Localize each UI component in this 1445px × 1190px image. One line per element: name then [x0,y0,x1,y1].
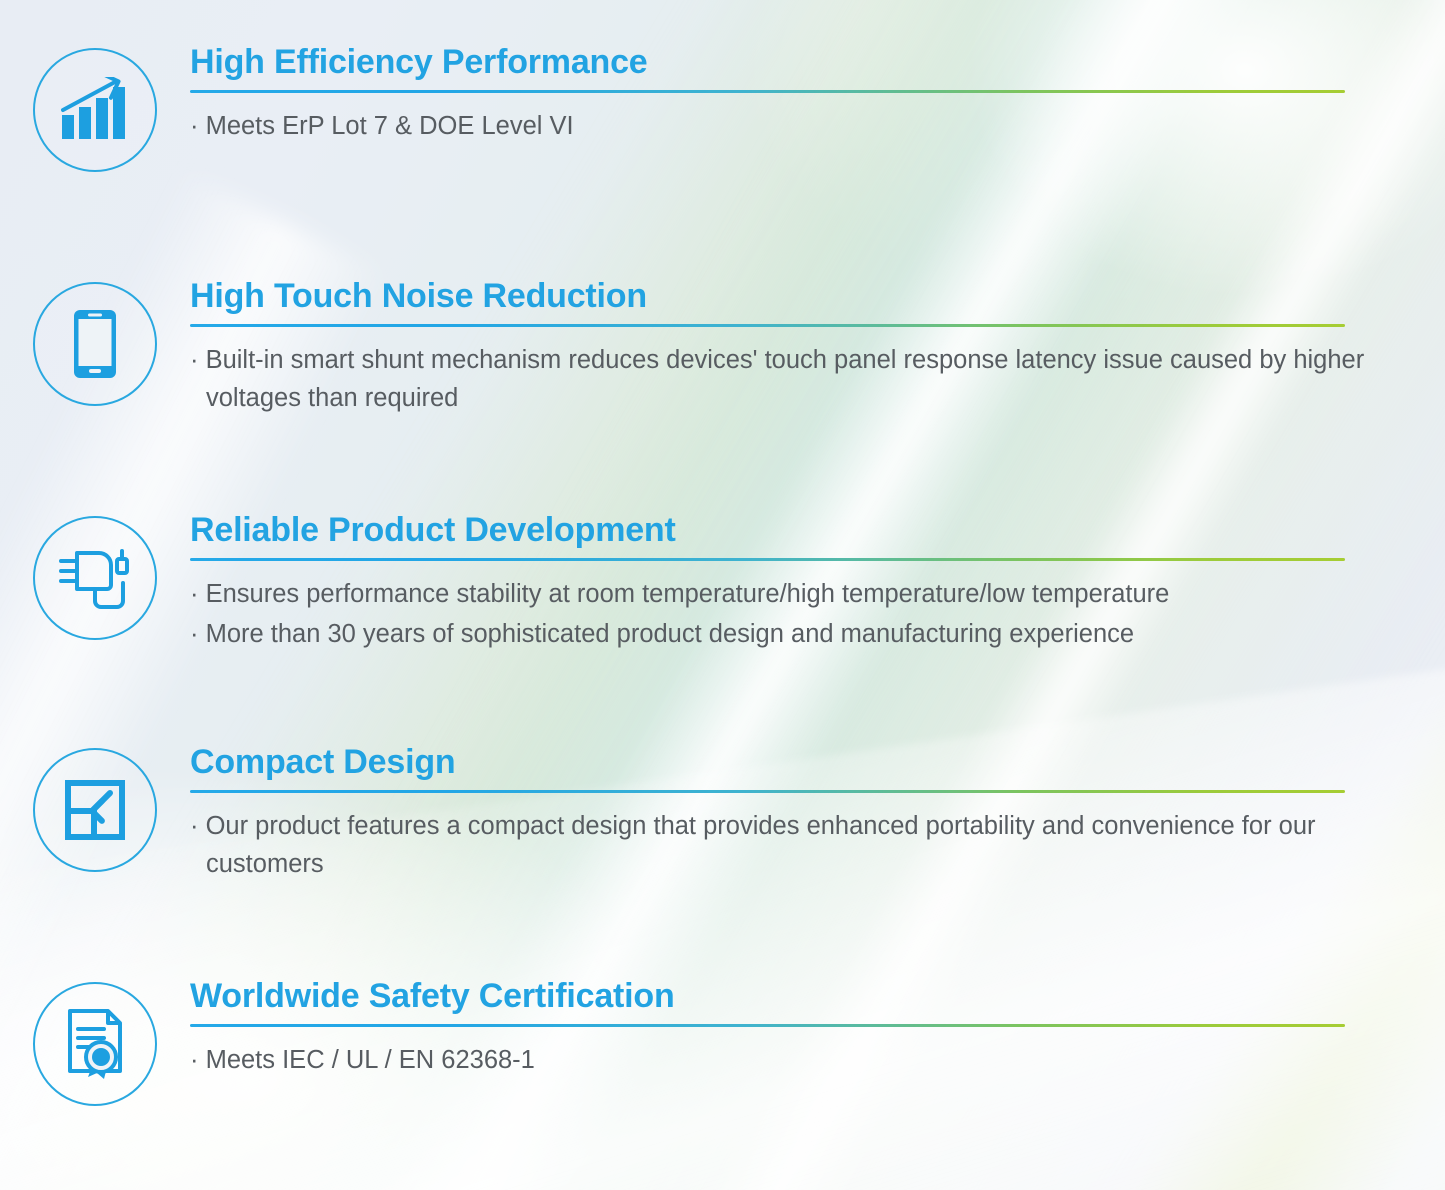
feature-text-block: Reliable Product Development · Ensures p… [190,512,1445,656]
feature-divider [190,790,1345,793]
feature-bullets: · Meets ErP Lot 7 & DOE Level VI [190,107,1365,145]
feature-icon-container [0,44,190,172]
feature-icon-container [0,744,190,872]
feature-highlights-page: High Efficiency Performance · Meets ErP … [0,0,1445,1190]
feature-divider [190,324,1345,327]
feature-bullet: · More than 30 years of sophisticated pr… [190,615,1365,653]
certificate-award-icon [33,982,157,1106]
feature-bullets: · Built-in smart shunt mechanism reduces… [190,341,1365,418]
feature-icon-container [0,978,190,1106]
feature-item-high-efficiency-performance: High Efficiency Performance · Meets ErP … [0,44,1445,172]
feature-title: High Efficiency Performance [190,44,1365,80]
feature-item-high-touch-noise-reduction: High Touch Noise Reduction · Built-in sm… [0,278,1445,420]
feature-item-compact-design: Compact Design · Our product features a … [0,744,1445,886]
feature-bullet: · Built-in smart shunt mechanism reduces… [190,341,1365,418]
feature-bullet: · Meets ErP Lot 7 & DOE Level VI [190,107,1365,145]
feature-divider [190,90,1345,93]
feature-bullets: · Meets IEC / UL / EN 62368-1 [190,1041,1365,1079]
feature-title: High Touch Noise Reduction [190,278,1365,314]
feature-text-block: Compact Design · Our product features a … [190,744,1445,886]
feature-bullets: · Ensures performance stability at room … [190,575,1365,654]
compact-resize-icon [33,748,157,872]
feature-text-block: High Efficiency Performance · Meets ErP … [190,44,1445,147]
feature-item-worldwide-safety-certification: Worldwide Safety Certification · Meets I… [0,978,1445,1106]
feature-text-block: High Touch Noise Reduction · Built-in sm… [190,278,1445,420]
feature-icon-container [0,512,190,640]
smartphone-icon [33,282,157,406]
bar-chart-growth-icon [33,48,157,172]
feature-item-reliable-product-development: Reliable Product Development · Ensures p… [0,512,1445,656]
feature-bullet: · Ensures performance stability at room … [190,575,1365,613]
feature-bullet: · Our product features a compact design … [190,807,1365,884]
feature-icon-container [0,278,190,406]
feature-title: Reliable Product Development [190,512,1365,548]
feature-text-block: Worldwide Safety Certification · Meets I… [190,978,1445,1081]
feature-bullet: · Meets IEC / UL / EN 62368-1 [190,1041,1365,1079]
power-adapter-icon [33,516,157,640]
feature-title: Worldwide Safety Certification [190,978,1365,1014]
feature-bullets: · Our product features a compact design … [190,807,1365,884]
feature-divider [190,1024,1345,1027]
feature-title: Compact Design [190,744,1365,780]
feature-divider [190,558,1345,561]
